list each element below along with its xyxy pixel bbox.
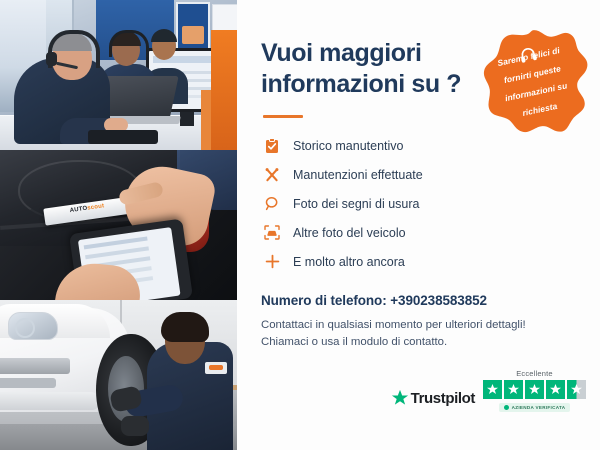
page-title: Vuoi maggiori informazioni su ?	[261, 38, 473, 99]
star-half-5	[567, 380, 586, 399]
monitor-stand-shape	[180, 112, 194, 126]
trustpilot-wordmark: Trustpilot	[411, 390, 475, 407]
trustpilot-stars	[483, 380, 586, 399]
star-filled-4	[546, 380, 565, 399]
star-filled-2	[504, 380, 523, 399]
tools-cross-icon	[261, 165, 283, 185]
feature-label: E molto altro ancora	[293, 255, 405, 269]
advertisement-banner: AUTOscout	[0, 0, 600, 450]
verified-business-badge: AZIENDA VERIFICATA	[499, 403, 571, 412]
feature-label: Storico manutentivo	[293, 139, 403, 153]
uniform-logo-shape	[205, 362, 227, 374]
photo-column: AUTOscout	[0, 0, 237, 450]
trustpilot-star-icon	[391, 389, 409, 407]
plus-icon	[261, 252, 283, 272]
call-center-agents-photo	[0, 0, 237, 150]
magnifier-icon	[261, 194, 283, 214]
headset-icon	[518, 45, 539, 64]
feature-label: Foto dei segni di usura	[293, 197, 419, 211]
mechanic-hair-shape	[161, 312, 209, 342]
verified-check-icon	[504, 405, 509, 410]
feature-list: Storico manutentivo Manutenzioni effettu…	[261, 132, 578, 275]
car-grille-shape	[0, 358, 70, 374]
car-scan-icon	[261, 223, 283, 243]
verified-label: AZIENDA VERIFICATA	[512, 405, 566, 410]
contact-line-2: Chiamaci o usa il modulo di contatto.	[261, 334, 578, 351]
feature-label: Altre foto del veicolo	[293, 226, 406, 240]
contact-line-1: Contattaci in qualsiasi momento per ulte…	[261, 317, 578, 334]
star-filled-3	[525, 380, 544, 399]
car-grille-shape-2	[0, 378, 56, 388]
phone-number-label[interactable]: Numero di telefono: +390238583852	[261, 293, 578, 308]
feature-label: Manutenzioni effettuate	[293, 168, 423, 182]
trustpilot-badge[interactable]: Trustpilot Eccellente	[391, 369, 586, 412]
callout-starburst-badge: Saremo felici di fornirti queste informa…	[480, 28, 588, 136]
star-filled-1	[483, 380, 502, 399]
list-item: Foto dei segni di usura	[261, 190, 578, 217]
orange-panel-shape	[211, 30, 237, 150]
title-divider	[263, 115, 303, 118]
clipboard-check-icon	[261, 136, 283, 156]
car-bumper-shape	[0, 392, 100, 410]
list-item: Altre foto del veicolo	[261, 219, 578, 246]
trustpilot-logo: Trustpilot	[391, 389, 475, 412]
list-item: E molto altro ancora	[261, 248, 578, 275]
keyboard-shape	[88, 130, 158, 144]
contact-block: Numero di telefono: +390238583852 Contat…	[261, 293, 578, 350]
mechanic-glove-shape-2	[121, 416, 149, 436]
strip-logo-text: AUTOscout	[69, 203, 104, 214]
vehicle-inspection-photo: AUTOscout	[0, 150, 237, 300]
trustpilot-rating-label: Eccellente	[516, 369, 553, 378]
trustpilot-rating-group: Eccellente	[483, 369, 586, 412]
list-item: Manutenzioni effettuate	[261, 161, 578, 188]
mechanic-wheel-photo	[0, 300, 237, 450]
headlamp-shape	[8, 312, 58, 340]
agent-2-headset-shape	[109, 30, 149, 57]
content-panel: Vuoi maggiori informazioni su ? Storico …	[237, 0, 600, 450]
list-item: Storico manutentivo	[261, 132, 578, 159]
